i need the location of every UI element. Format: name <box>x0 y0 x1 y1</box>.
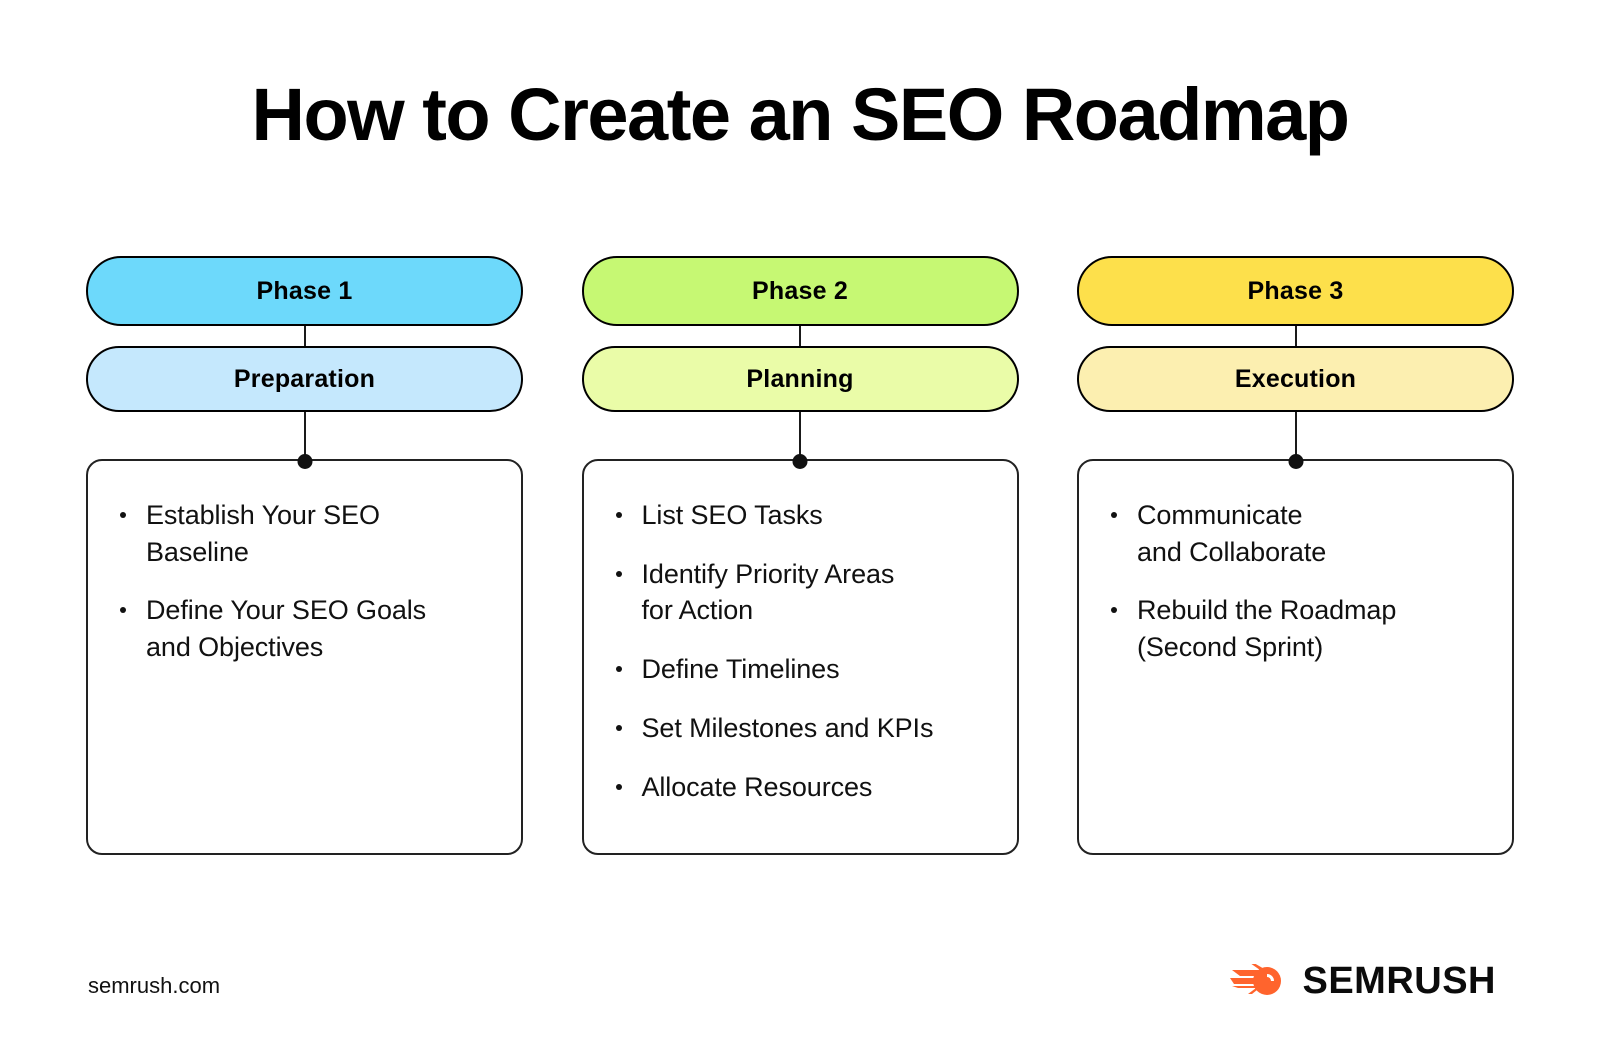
list-item-label: Rebuild the Roadmap (Second Sprint) <box>1137 592 1484 665</box>
phase-header-label-3: Phase 3 <box>1248 277 1344 306</box>
list-item-label: Identify Priority Areas for Action <box>642 556 989 629</box>
list-item-label: Allocate Resources <box>642 769 989 806</box>
bullet-list-2: List SEO Tasks Identify Priority Areas f… <box>606 497 989 805</box>
phase-stage-label-2: Planning <box>746 365 853 394</box>
list-item: Communicate and Collaborate <box>1101 497 1484 570</box>
phase-content-box-2: List SEO Tasks Identify Priority Areas f… <box>582 459 1019 855</box>
connector-dot-1 <box>297 454 312 469</box>
list-item: List SEO Tasks <box>606 497 989 534</box>
phase-header-2[interactable]: Phase 2 <box>582 256 1019 326</box>
phase-columns: Phase 1 Preparation Establish Your SEO B… <box>86 256 1514 855</box>
list-item-label: Communicate and Collaborate <box>1137 497 1484 570</box>
list-item-label: List SEO Tasks <box>642 497 989 534</box>
connector-dot-3 <box>1288 454 1303 469</box>
connector-line-top-2 <box>799 324 801 346</box>
bullet-point-icon <box>616 571 622 577</box>
bullet-point-icon <box>1111 512 1117 518</box>
list-item-label: Define Timelines <box>642 651 989 688</box>
phase-column-1: Phase 1 Preparation Establish Your SEO B… <box>86 256 523 855</box>
semrush-comet-icon <box>1230 964 1288 998</box>
phase-stage-1[interactable]: Preparation <box>86 346 523 412</box>
bullet-point-icon <box>616 784 622 790</box>
bullet-list-1: Establish Your SEO Baseline Define Your … <box>110 497 493 666</box>
bullet-point-icon <box>120 607 126 613</box>
bullet-point-icon <box>616 725 622 731</box>
phase-stage-label-1: Preparation <box>234 365 375 394</box>
list-item: Allocate Resources <box>606 769 989 806</box>
page-title: How to Create an SEO Roadmap <box>0 72 1600 157</box>
connector-line-top-1 <box>304 324 306 346</box>
footer-url: semrush.com <box>88 973 220 999</box>
list-item-label: Define Your SEO Goals and Objectives <box>146 592 493 665</box>
bullet-point-icon <box>120 512 126 518</box>
semrush-wordmark: SEMRUSH <box>1302 962 1496 1000</box>
list-item: Identify Priority Areas for Action <box>606 556 989 629</box>
list-item-label: Establish Your SEO Baseline <box>146 497 493 570</box>
list-item: Set Milestones and KPIs <box>606 710 989 747</box>
connector-dot-2 <box>793 454 808 469</box>
phase-header-3[interactable]: Phase 3 <box>1077 256 1514 326</box>
phase-column-3: Phase 3 Execution Communicate and Collab… <box>1077 256 1514 855</box>
phase-header-label-1: Phase 1 <box>257 277 353 306</box>
phase-header-label-2: Phase 2 <box>752 277 848 306</box>
phase-stage-2[interactable]: Planning <box>582 346 1019 412</box>
list-item: Define Timelines <box>606 651 989 688</box>
list-item: Establish Your SEO Baseline <box>110 497 493 570</box>
semrush-logo: SEMRUSH <box>1230 962 1496 1000</box>
bullet-point-icon <box>616 512 622 518</box>
list-item-label: Set Milestones and KPIs <box>642 710 989 747</box>
phase-column-2: Phase 2 Planning List SEO Tasks Identify… <box>582 256 1019 855</box>
phase-content-box-1: Establish Your SEO Baseline Define Your … <box>86 459 523 855</box>
connector-line-top-3 <box>1295 324 1297 346</box>
list-item: Rebuild the Roadmap (Second Sprint) <box>1101 592 1484 665</box>
phase-content-box-3: Communicate and Collaborate Rebuild the … <box>1077 459 1514 855</box>
phase-stage-label-3: Execution <box>1235 365 1356 394</box>
bullet-point-icon <box>616 666 622 672</box>
bullet-point-icon <box>1111 607 1117 613</box>
bullet-list-3: Communicate and Collaborate Rebuild the … <box>1101 497 1484 666</box>
list-item: Define Your SEO Goals and Objectives <box>110 592 493 665</box>
phase-stage-3[interactable]: Execution <box>1077 346 1514 412</box>
phase-header-1[interactable]: Phase 1 <box>86 256 523 326</box>
